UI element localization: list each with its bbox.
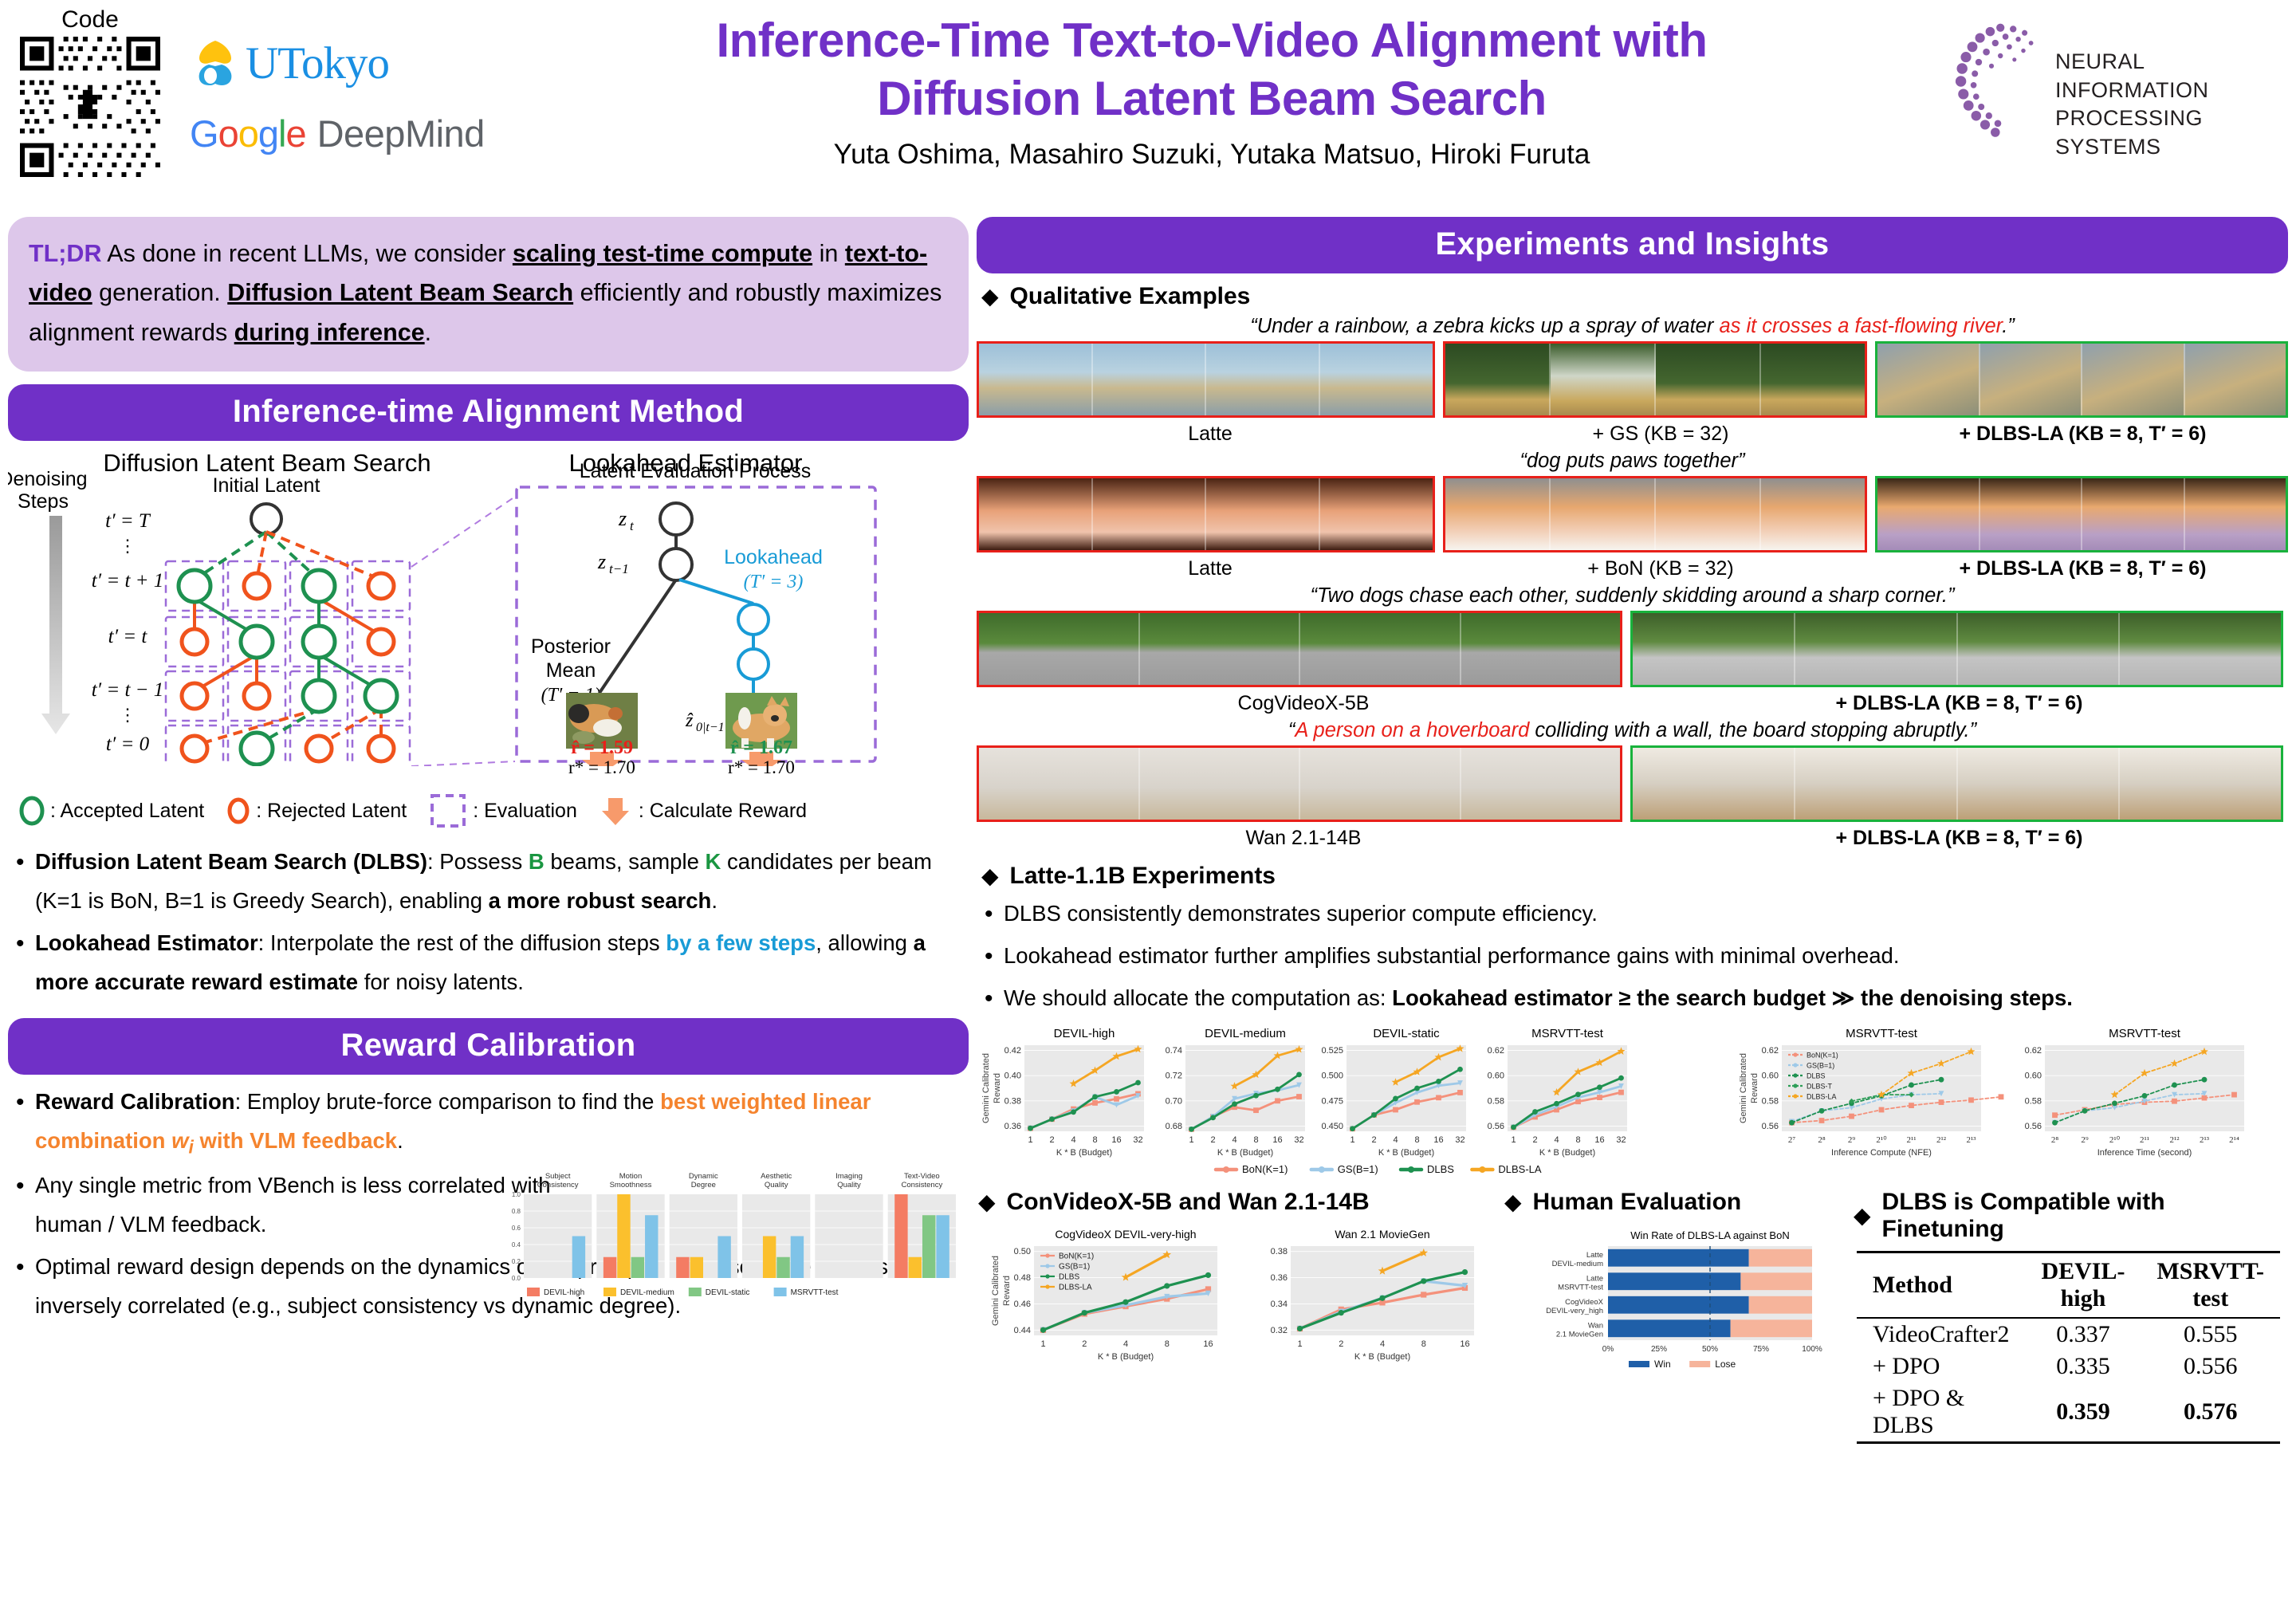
reward-calibration-body: Reward Calibration: Employ brute-force c… <box>8 1083 969 1326</box>
author-list: Yuta Oshima, Masahiro Suzuki, Yutaka Mat… <box>494 139 1929 171</box>
example-4-caption-1: + DLBS-LA (KB = 8, T′ = 6) <box>1630 827 2288 850</box>
chart-vbench-metrics: SubjectConsistencyMotionSmoothnessDynami… <box>492 1156 962 1339</box>
svg-text:0.500: 0.500 <box>1321 1071 1343 1080</box>
svg-text:Denoising: Denoising <box>8 468 88 490</box>
tldr-box: TL;DR As done in recent LLMs, we conside… <box>8 217 969 372</box>
svg-text:DLBS: DLBS <box>1807 1072 1826 1079</box>
legend-rejected-label: : Rejected Latent <box>256 800 407 823</box>
svg-text:16: 16 <box>1460 1339 1469 1349</box>
latte-charts-svg: DEVIL-high0.360.380.400.4212481632K * B … <box>977 1021 2288 1181</box>
finetune-label: DLBS is Compatible with Finetuning <box>1882 1189 2280 1243</box>
table-row: + DPO & DLBS0.3590.576 <box>1857 1382 2280 1443</box>
svg-text:2¹¹: 2¹¹ <box>1906 1135 1916 1145</box>
svg-text:0.38: 0.38 <box>1271 1247 1288 1256</box>
svg-text:32: 32 <box>1294 1135 1303 1145</box>
svg-text:0.60: 0.60 <box>1488 1071 1504 1080</box>
video-frame <box>2185 344 2286 415</box>
svg-text:2¹³: 2¹³ <box>1966 1135 1976 1145</box>
svg-text:t′ = 0: t′ = 0 <box>106 733 150 755</box>
svg-text:Quality: Quality <box>765 1181 788 1189</box>
svg-text:2⁷: 2⁷ <box>1788 1135 1796 1145</box>
poster-title-line1: Inference-Time Text-to-Video Alignment w… <box>494 11 1929 69</box>
svg-text:8: 8 <box>1092 1135 1097 1145</box>
video-frame <box>1656 478 1761 550</box>
bullet-lookahead: Lookahead Estimator: Interpolate the res… <box>8 924 969 1002</box>
method-legend: : Accepted Latent : Rejected Latent : Ev… <box>8 793 969 828</box>
svg-text:CogVideoX: CogVideoX <box>1565 1298 1604 1307</box>
svg-text:32: 32 <box>1616 1135 1626 1145</box>
video-frame <box>1980 344 2082 415</box>
svg-text:GS(B=1): GS(B=1) <box>1338 1163 1378 1175</box>
svg-text:2¹⁰: 2¹⁰ <box>2109 1135 2121 1145</box>
cell-msrvtt-test: 0.556 <box>2141 1351 2280 1382</box>
neurips-swirl-icon <box>1934 18 2062 145</box>
bottom-row: ◆ ConVideoX-5B and Wan 2.1-14B CogVideoX… <box>977 1189 2288 1444</box>
video-frame <box>1320 478 1433 550</box>
latte-bullet-2: We should allocate the computation as: L… <box>977 979 2288 1018</box>
svg-text:0.62: 0.62 <box>2025 1046 2042 1056</box>
qr-block: Code <box>14 6 166 181</box>
example-3-group-dlbs <box>1630 611 2283 687</box>
svg-text:t′ = T: t′ = T <box>105 510 151 532</box>
example-2-caption-2: + DLBS-LA (KB = 8, T′ = 6) <box>1877 557 2288 580</box>
heading-convideox: ◆ ConVideoX-5B and Wan 2.1-14B <box>978 1189 1503 1216</box>
qualitative-examples-label: Qualitative Examples <box>1010 283 1251 310</box>
video-frame <box>2082 478 2184 550</box>
svg-text:0.56: 0.56 <box>1488 1122 1504 1131</box>
diamond-bullet-icon: ◆ <box>981 285 999 308</box>
svg-text:Gemini Calibrated: Gemini Calibrated <box>1739 1053 1748 1123</box>
svg-text:Motion: Motion <box>619 1172 643 1181</box>
svg-text:2¹⁰: 2¹⁰ <box>1876 1135 1887 1145</box>
svg-text:0.32: 0.32 <box>1271 1326 1288 1335</box>
svg-text:GS(B=1): GS(B=1) <box>1807 1061 1834 1069</box>
convideox-label: ConVideoX-5B and Wan 2.1-14B <box>1007 1189 1370 1216</box>
svg-text:Inference Compute (NFE): Inference Compute (NFE) <box>1831 1148 1932 1158</box>
video-frame <box>2120 613 2281 685</box>
video-frame <box>1551 478 1656 550</box>
example-1-strip <box>977 341 2288 418</box>
svg-text:1: 1 <box>1189 1135 1193 1145</box>
svg-text:25%: 25% <box>1651 1345 1667 1354</box>
svg-text:Consistency: Consistency <box>537 1181 579 1189</box>
svg-text:Lookahead: Lookahead <box>724 546 823 568</box>
svg-text:0.525: 0.525 <box>1321 1046 1343 1056</box>
vbench-metrics-svg: SubjectConsistencyMotionSmoothnessDynami… <box>492 1156 962 1339</box>
svg-text:2⁸: 2⁸ <box>2051 1135 2059 1145</box>
svg-text:0.48: 0.48 <box>1014 1273 1031 1283</box>
example-4-group-wan <box>977 745 1622 822</box>
svg-text:0.6: 0.6 <box>512 1225 521 1232</box>
svg-text:Latte: Latte <box>1586 1274 1603 1283</box>
legend-evaluation-label: : Evaluation <box>473 800 577 823</box>
section-header-method: Inference-time Alignment Method <box>8 384 969 441</box>
svg-text:Aesthetic: Aesthetic <box>761 1172 792 1181</box>
svg-text:Dynamic: Dynamic <box>689 1172 718 1181</box>
cell-devil-high: 0.335 <box>2025 1351 2141 1382</box>
video-frame <box>1445 344 1551 415</box>
poster-header: Code <box>0 0 2296 209</box>
svg-text:1: 1 <box>1028 1135 1032 1145</box>
svg-text:0.450: 0.450 <box>1321 1122 1343 1131</box>
legend-evaluation: : Evaluation <box>427 793 577 828</box>
legend-accepted-label: : Accepted Latent <box>50 800 204 823</box>
svg-text:Reward: Reward <box>993 1073 1002 1103</box>
example-1-prompt-plain: “Under a rainbow, a zebra kicks up a spr… <box>1250 315 1719 337</box>
svg-text:MSRVTT-test: MSRVTT-test <box>791 1288 839 1297</box>
svg-text:Degree: Degree <box>691 1181 716 1189</box>
convideox-block: ◆ ConVideoX-5B and Wan 2.1-14B CogVideoX… <box>977 1189 1503 1444</box>
tldr-t1: As done in recent LLMs, we consider <box>101 240 512 267</box>
example-1-caption-0: Latte <box>977 423 1444 446</box>
video-frame <box>1761 344 1865 415</box>
video-frame <box>1320 344 1433 415</box>
svg-text:(T′ = 3): (T′ = 3) <box>744 572 804 592</box>
r-star-right-value: r* = 1.70 <box>717 757 805 778</box>
video-frame <box>1206 344 1320 415</box>
th-method: Method <box>1857 1252 2025 1318</box>
example-3-strip <box>977 611 2288 687</box>
example-2-prompt: “dog puts paws together” <box>977 450 2288 473</box>
human-eval-block: ◆ Human Evaluation Win Rate of DLBS-LA a… <box>1503 1189 1846 1444</box>
svg-text:16: 16 <box>1111 1135 1121 1145</box>
diamond-bullet-icon: ◆ <box>981 865 999 887</box>
svg-text:75%: 75% <box>1753 1345 1769 1354</box>
svg-text:DEVIL-medium: DEVIL-medium <box>620 1288 674 1297</box>
google-deepmind-logo: Google DeepMind <box>190 105 509 161</box>
finetune-table: Method DEVIL-high MSRVTT-test VideoCraft… <box>1857 1251 2280 1444</box>
video-frame <box>1206 478 1320 550</box>
example-3-group-cogvideox <box>977 611 1622 687</box>
method-figure: Diffusion Latent Beam Search Lookahead E… <box>8 447 969 766</box>
svg-text:DEVIL-medium: DEVIL-medium <box>1205 1027 1286 1040</box>
svg-text:MSRVTT-test: MSRVTT-test <box>1558 1283 1603 1292</box>
svg-text:8: 8 <box>1421 1339 1426 1349</box>
svg-text:8: 8 <box>1575 1135 1580 1145</box>
video-frame <box>979 748 1140 820</box>
svg-text:2: 2 <box>1532 1135 1537 1145</box>
right-column: Experiments and Insights ◆ Qualitative E… <box>977 217 2288 1444</box>
poster-root: Code <box>0 0 2296 1624</box>
rejected-latent-icon <box>225 795 252 827</box>
example-3-captions: CogVideoX-5B + DLBS-LA (KB = 8, T′ = 6) <box>977 692 2288 715</box>
section-header-experiments: Experiments and Insights <box>977 217 2288 273</box>
video-frame <box>979 613 1140 685</box>
svg-text:4: 4 <box>1123 1339 1128 1349</box>
video-frame <box>1300 748 1461 820</box>
svg-text:2: 2 <box>1082 1339 1087 1349</box>
svg-text:8: 8 <box>1165 1339 1170 1349</box>
left-column: TL;DR As done in recent LLMs, we conside… <box>8 217 969 1329</box>
svg-text:0.68: 0.68 <box>1166 1122 1182 1131</box>
svg-text:2⁹: 2⁹ <box>2081 1135 2089 1145</box>
poster-title-line2: Diffusion Latent Beam Search <box>494 69 1929 128</box>
svg-text:2¹²: 2¹² <box>1936 1135 1947 1145</box>
accepted-latent-icon <box>18 795 46 827</box>
svg-text:2¹³: 2¹³ <box>2200 1135 2210 1145</box>
svg-text:16: 16 <box>1594 1135 1604 1145</box>
video-frame <box>1461 613 1621 685</box>
svg-text:2¹⁴: 2¹⁴ <box>2229 1135 2239 1145</box>
qr-code-icon[interactable] <box>20 37 160 177</box>
r-star-left-value: r* = 1.70 <box>558 757 646 778</box>
svg-text:1: 1 <box>1040 1339 1045 1349</box>
utokyo-label: UTokyo <box>246 37 389 89</box>
video-frame <box>2120 748 2281 820</box>
svg-text:0.44: 0.44 <box>1014 1326 1031 1335</box>
svg-text:K * B (Budget): K * B (Budget) <box>1217 1148 1273 1158</box>
svg-text:K * B (Budget): K * B (Budget) <box>1378 1148 1434 1158</box>
legend-rejected-latent: : Rejected Latent <box>225 795 407 827</box>
example-2-strip <box>977 476 2288 552</box>
svg-text:t: t <box>630 518 635 533</box>
svg-text:0.38: 0.38 <box>1005 1096 1021 1106</box>
video-frame <box>1761 478 1865 550</box>
svg-text:2: 2 <box>1371 1135 1376 1145</box>
svg-text:0.62: 0.62 <box>1488 1046 1504 1056</box>
svg-text:0.70: 0.70 <box>1166 1096 1182 1106</box>
diamond-bullet-icon: ◆ <box>978 1191 996 1213</box>
video-frame <box>2185 478 2286 550</box>
svg-text:16: 16 <box>1433 1135 1443 1145</box>
tldr-u4: during inference <box>234 319 425 346</box>
svg-text:MSRVTT-test: MSRVTT-test <box>1531 1027 1604 1040</box>
diamond-bullet-icon: ◆ <box>1504 1191 1522 1213</box>
utokyo-ginkgo-icon <box>190 37 241 88</box>
svg-text:Initial Latent: Initial Latent <box>213 474 320 497</box>
svg-text:Text-Video: Text-Video <box>904 1172 940 1181</box>
title-block: Inference-Time Text-to-Video Alignment w… <box>494 11 1929 171</box>
example-row-dogs: “Two dogs chase each other, suddenly ski… <box>977 584 2288 715</box>
latte-experiments-label: Latte-1.1B Experiments <box>1010 863 1276 890</box>
video-frame <box>1093 344 1207 415</box>
svg-text:2: 2 <box>1210 1135 1215 1145</box>
example-4-prompt-red: A person on a hoverboard <box>1295 719 1529 741</box>
svg-text:Wan 2.1 MovieGen: Wan 2.1 MovieGen <box>1335 1228 1429 1241</box>
example-1-caption-1: + GS (KB = 32) <box>1444 423 1877 446</box>
svg-text:50%: 50% <box>1702 1345 1718 1354</box>
svg-text:2.1 MovieGen: 2.1 MovieGen <box>1556 1330 1603 1339</box>
svg-text:0.40: 0.40 <box>1005 1071 1021 1080</box>
latte-bullets: DLBS consistently demonstrates superior … <box>977 895 2288 1018</box>
svg-text:8: 8 <box>1253 1135 1258 1145</box>
svg-text:DEVIL-medium: DEVIL-medium <box>1552 1260 1603 1268</box>
th-devil-high: DEVIL-high <box>2025 1252 2141 1318</box>
svg-text:z: z <box>618 507 627 530</box>
svg-text:0.475: 0.475 <box>1321 1096 1343 1106</box>
svg-text:Quality: Quality <box>837 1181 861 1189</box>
svg-text:DLBS: DLBS <box>1427 1163 1454 1175</box>
video-frame <box>1445 478 1551 550</box>
video-frame <box>1877 478 1980 550</box>
svg-text:Latte: Latte <box>1586 1251 1603 1260</box>
svg-text:MSRVTT-test: MSRVTT-test <box>1846 1027 1918 1040</box>
video-frame <box>1877 344 1980 415</box>
svg-text:GS(B=1): GS(B=1) <box>1059 1262 1090 1271</box>
svg-text:Mean: Mean <box>546 659 596 682</box>
example-2-caption-1: + BoN (KB = 32) <box>1444 557 1877 580</box>
example-1-group-latte <box>977 341 1435 418</box>
bullet-dlbs: Diffusion Latent Beam Search (DLBS): Pos… <box>8 843 969 921</box>
svg-text:0.34: 0.34 <box>1271 1300 1288 1309</box>
bullet-reward-calibration: Reward Calibration: Employ brute-force c… <box>8 1083 969 1163</box>
video-frame <box>1795 748 1958 820</box>
cell-method: + DPO <box>1857 1351 2025 1382</box>
svg-text:⋮: ⋮ <box>119 536 136 556</box>
svg-text:1.0: 1.0 <box>512 1191 521 1198</box>
heading-finetune: ◆ DLBS is Compatible with Finetuning <box>1854 1189 2280 1243</box>
neurips-line-1: NEURAL INFORMATION <box>2055 48 2277 104</box>
svg-text:Latent Evaluation Process: Latent Evaluation Process <box>580 460 811 482</box>
svg-text:4: 4 <box>1380 1339 1385 1349</box>
svg-text:0.36: 0.36 <box>1005 1122 1021 1131</box>
svg-text:4: 4 <box>1232 1135 1236 1145</box>
svg-text:MSRVTT-test: MSRVTT-test <box>2109 1027 2181 1040</box>
svg-text:Lose: Lose <box>1715 1359 1736 1370</box>
cell-devil-high: 0.359 <box>2025 1382 2141 1443</box>
svg-text:0.62: 0.62 <box>1762 1046 1779 1056</box>
svg-text:DEVIL-static: DEVIL-static <box>706 1288 750 1297</box>
latte-bullet-1: Lookahead estimator further amplifies su… <box>977 937 2288 976</box>
svg-text:DEVIL-static: DEVIL-static <box>1373 1027 1440 1040</box>
example-1-caption-2: + DLBS-LA (KB = 8, T′ = 6) <box>1877 423 2288 446</box>
svg-text:t′ = t − 1: t′ = t − 1 <box>92 679 164 701</box>
video-frame <box>1633 613 1795 685</box>
video-frame <box>1656 344 1761 415</box>
svg-text:1: 1 <box>1297 1339 1302 1349</box>
example-1-captions: Latte + GS (KB = 32) + DLBS-LA (KB = 8, … <box>977 423 2288 446</box>
finetune-block: ◆ DLBS is Compatible with Finetuning Met… <box>1846 1189 2280 1444</box>
svg-text:0.2: 0.2 <box>512 1258 521 1265</box>
utokyo-logo: UTokyo <box>190 32 509 94</box>
svg-text:2¹¹: 2¹¹ <box>2140 1135 2149 1145</box>
heading-human-eval: ◆ Human Evaluation <box>1504 1189 1846 1216</box>
svg-text:Inference Time (second): Inference Time (second) <box>2097 1148 2192 1158</box>
svg-text:Reward: Reward <box>1002 1276 1012 1306</box>
svg-text:Steps: Steps <box>18 490 69 513</box>
svg-text:Gemini Calibrated: Gemini Calibrated <box>981 1053 991 1123</box>
svg-text:0.0: 0.0 <box>512 1275 521 1282</box>
svg-text:2: 2 <box>1049 1135 1054 1145</box>
legend-accepted-latent: : Accepted Latent <box>18 795 204 827</box>
example-1-prompt-red: as it crosses a fast-flowing river <box>1719 315 2002 337</box>
video-frame <box>1958 613 2121 685</box>
neurips-line-2: PROCESSING SYSTEMS <box>2055 104 2277 161</box>
svg-text:0%: 0% <box>1602 1345 1614 1354</box>
svg-text:2⁸: 2⁸ <box>1818 1135 1826 1145</box>
example-1-group-gs <box>1443 341 1868 418</box>
svg-text:DLBS: DLBS <box>1059 1272 1079 1281</box>
example-4-caption-0: Wan 2.1-14B <box>977 827 1630 850</box>
cell-method: + DPO & DLBS <box>1857 1382 2025 1443</box>
video-frame <box>979 344 1093 415</box>
section-header-reward-calibration: Reward Calibration <box>8 1018 969 1075</box>
svg-text:0.58: 0.58 <box>1762 1096 1779 1106</box>
video-frame <box>1140 613 1301 685</box>
svg-text:t′ = t: t′ = t <box>108 626 148 647</box>
cell-method: VideoCrafter2 <box>1857 1318 2025 1351</box>
svg-text:DLBS-LA: DLBS-LA <box>1059 1283 1092 1292</box>
svg-text:4: 4 <box>1071 1135 1075 1145</box>
svg-text:DEVIL-very_high: DEVIL-very_high <box>1546 1307 1603 1315</box>
svg-text:32: 32 <box>1133 1135 1142 1145</box>
diamond-bullet-icon: ◆ <box>1854 1205 1871 1227</box>
svg-text:8: 8 <box>1414 1135 1419 1145</box>
example-row-zebra: “Under a rainbow, a zebra kicks up a spr… <box>977 315 2288 446</box>
human-eval-label: Human Evaluation <box>1533 1189 1742 1216</box>
calculate-reward-arrow-icon <box>598 795 635 827</box>
svg-text:t′ = t + 1: t′ = t + 1 <box>92 570 164 592</box>
legend-reward-label: : Calculate Reward <box>639 800 807 823</box>
svg-text:16: 16 <box>1272 1135 1282 1145</box>
google-wordmark: Google <box>190 112 306 155</box>
example-2-group-bon <box>1443 476 1868 552</box>
svg-text:1: 1 <box>1511 1135 1516 1145</box>
video-frame <box>1461 748 1621 820</box>
video-frame <box>1551 344 1656 415</box>
svg-text:K * B (Budget): K * B (Budget) <box>1098 1352 1154 1362</box>
example-4-strip <box>977 745 2288 822</box>
svg-text:DLBS-LA: DLBS-LA <box>1498 1163 1542 1175</box>
human-eval-chart-svg: Win Rate of DLBS-LA against BoNLatteDEVI… <box>1503 1219 1846 1370</box>
affiliation-logos: UTokyo Google DeepMind <box>190 32 509 161</box>
cell-msrvtt-test: 0.576 <box>2141 1382 2280 1443</box>
example-3-caption-0: CogVideoX-5B <box>977 692 1630 715</box>
svg-text:32: 32 <box>1455 1135 1464 1145</box>
svg-text:Gemini Calibrated: Gemini Calibrated <box>991 1256 1001 1326</box>
tldr-t5: . <box>425 319 431 346</box>
svg-text:DLBS-T: DLBS-T <box>1807 1082 1833 1090</box>
example-2-captions: Latte + BoN (KB = 32) + DLBS-LA (KB = 8,… <box>977 557 2288 580</box>
example-3-caption-1: + DLBS-LA (KB = 8, T′ = 6) <box>1630 692 2288 715</box>
video-frame <box>1140 748 1301 820</box>
example-1-group-dlbs <box>1875 341 2288 418</box>
svg-text:Imaging: Imaging <box>835 1172 863 1181</box>
example-row-hoverboard: “A person on a hoverboard colliding with… <box>977 719 2288 850</box>
svg-text:0.74: 0.74 <box>1166 1046 1182 1056</box>
method-diagram-svg: Denoising Steps t′ = T ⋮ t′ = t + 1 t′ =… <box>8 447 969 766</box>
svg-text:0.46: 0.46 <box>1014 1300 1031 1309</box>
svg-text:Smoothness: Smoothness <box>610 1181 652 1189</box>
evaluation-box-icon <box>427 793 469 828</box>
example-4-prompt-tail: colliding with a wall, the board stoppin… <box>1529 719 1976 741</box>
svg-text:0.56: 0.56 <box>1762 1122 1779 1131</box>
video-frame <box>1633 748 1795 820</box>
svg-text:100%: 100% <box>1802 1345 1822 1354</box>
example-row-paws: “dog puts paws together” <box>977 450 2288 580</box>
bullet-dlbs-term: Diffusion Latent Beam Search (DLBS) <box>35 849 427 874</box>
svg-text:DEVIL-high: DEVIL-high <box>1054 1027 1115 1040</box>
video-frame <box>979 478 1093 550</box>
example-3-prompt: “Two dogs chase each other, suddenly ski… <box>977 584 2288 608</box>
svg-text:Posterior: Posterior <box>531 635 611 658</box>
svg-text:BoN(K=1): BoN(K=1) <box>1242 1163 1288 1175</box>
qr-label: Code <box>14 6 166 33</box>
video-frame <box>1958 748 2121 820</box>
svg-text:BoN(K=1): BoN(K=1) <box>1059 1252 1094 1260</box>
svg-text:ẑ: ẑ <box>685 710 694 731</box>
svg-text:Win: Win <box>1654 1359 1671 1370</box>
svg-text:Subject: Subject <box>545 1172 571 1181</box>
svg-text:Wan: Wan <box>1588 1321 1603 1330</box>
example-1-prompt-tail: .” <box>2002 315 2015 337</box>
chart-row-latte: DEVIL-high0.360.380.400.4212481632K * B … <box>977 1021 2288 1181</box>
svg-text:1: 1 <box>1350 1135 1354 1145</box>
tldr-u3: Diffusion Latent Beam Search <box>227 279 573 306</box>
table-header-row: Method DEVIL-high MSRVTT-test <box>1857 1252 2280 1318</box>
tldr-prefix: TL;DR <box>29 240 101 267</box>
svg-text:t−1: t−1 <box>609 561 629 576</box>
